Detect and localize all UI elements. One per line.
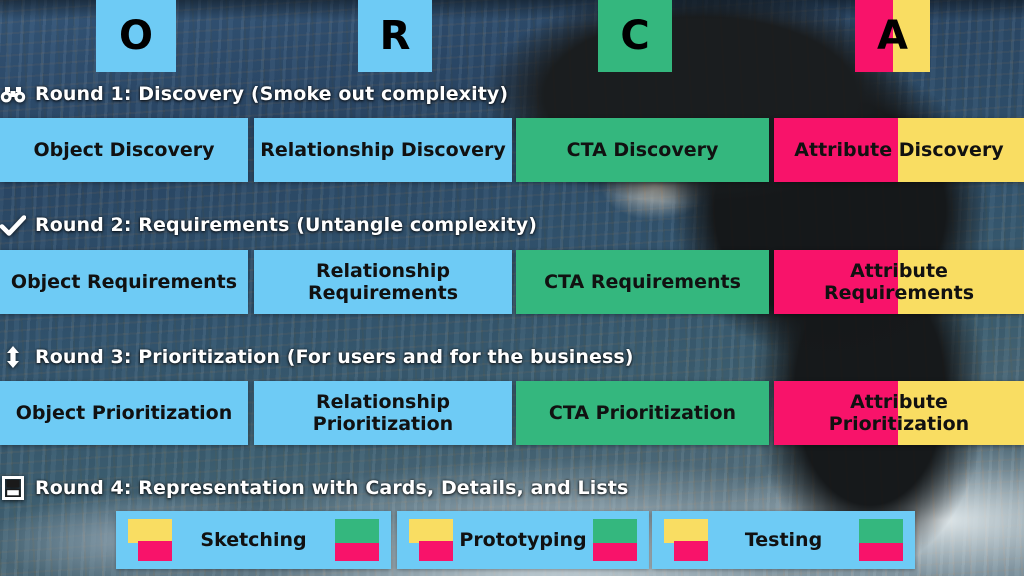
acronym-letter-r: R <box>358 0 432 72</box>
round-4-title-row: Round 4: Representation with Cards, Deta… <box>0 476 628 500</box>
chip-prototyping[interactable]: Prototyping <box>397 511 649 569</box>
round-1-title-row: Round 1: Discovery (Smoke out complexity… <box>0 82 508 106</box>
chip-sketching[interactable]: Sketching <box>116 511 391 569</box>
step-cta-prioritization-label: CTA Prioritization <box>543 402 742 424</box>
step-object-requirements[interactable]: Object Requirements <box>0 250 248 314</box>
step-relationship-prioritization-label: Relationship Prioritization <box>307 391 459 435</box>
step-relationship-discovery[interactable]: Relationship Discovery <box>254 118 512 182</box>
up-down-arrow-icon <box>0 345 26 369</box>
round-2-title-row: Round 2: Requirements (Untangle complexi… <box>0 213 537 237</box>
step-relationship-requirements-label: Relationship Requirements <box>302 260 464 304</box>
step-cta-prioritization[interactable]: CTA Prioritization <box>516 381 769 445</box>
checkmark-icon <box>0 213 26 237</box>
step-object-discovery[interactable]: Object Discovery <box>0 118 248 182</box>
step-attribute-prioritization[interactable]: Attribute Prioritization <box>774 381 1024 445</box>
binoculars-icon <box>0 82 26 106</box>
round-1-title-text: Round 1: Discovery (Smoke out complexity… <box>35 83 508 105</box>
acronym-letter-a-glyph: A <box>877 16 908 56</box>
step-relationship-discovery-label: Relationship Discovery <box>254 139 512 161</box>
acronym-letter-o-glyph: O <box>119 16 153 56</box>
orca-framework-slide: O R C A Round 1: Discovery (Smoke out co… <box>0 0 1024 576</box>
step-attribute-requirements-label: Attribute Requirements <box>818 260 980 304</box>
step-cta-discovery-label: CTA Discovery <box>561 139 725 161</box>
step-object-prioritization-label: Object Prioritization <box>10 402 239 424</box>
step-object-discovery-label: Object Discovery <box>27 139 220 161</box>
round-2-title-text: Round 2: Requirements (Untangle complexi… <box>35 214 537 236</box>
chip-prototyping-label: Prototyping <box>397 529 649 551</box>
step-cta-requirements[interactable]: CTA Requirements <box>516 250 769 314</box>
step-attribute-discovery-label: Attribute Discovery <box>788 139 1009 161</box>
card-list-icon <box>0 476 26 500</box>
acronym-letter-o: O <box>96 0 176 72</box>
round-3-title-text: Round 3: Prioritization (For users and f… <box>35 346 634 368</box>
round-3-title-row: Round 3: Prioritization (For users and f… <box>0 345 634 369</box>
step-attribute-prioritization-label: Attribute Prioritization <box>823 391 975 435</box>
chip-testing[interactable]: Testing <box>652 511 915 569</box>
step-object-requirements-label: Object Requirements <box>5 271 243 293</box>
step-cta-requirements-label: CTA Requirements <box>538 271 747 293</box>
round-4-title-text: Round 4: Representation with Cards, Deta… <box>35 477 628 499</box>
acronym-letter-c-glyph: C <box>620 16 649 56</box>
step-attribute-requirements[interactable]: Attribute Requirements <box>774 250 1024 314</box>
step-attribute-discovery[interactable]: Attribute Discovery <box>774 118 1024 182</box>
chip-testing-label: Testing <box>652 529 915 551</box>
chip-sketching-label: Sketching <box>116 529 391 551</box>
acronym-letter-r-glyph: R <box>380 16 411 56</box>
acronym-letter-c: C <box>598 0 672 72</box>
step-cta-discovery[interactable]: CTA Discovery <box>516 118 769 182</box>
step-relationship-prioritization[interactable]: Relationship Prioritization <box>254 381 512 445</box>
step-relationship-requirements[interactable]: Relationship Requirements <box>254 250 512 314</box>
acronym-letter-a: A <box>855 0 930 72</box>
step-object-prioritization[interactable]: Object Prioritization <box>0 381 248 445</box>
